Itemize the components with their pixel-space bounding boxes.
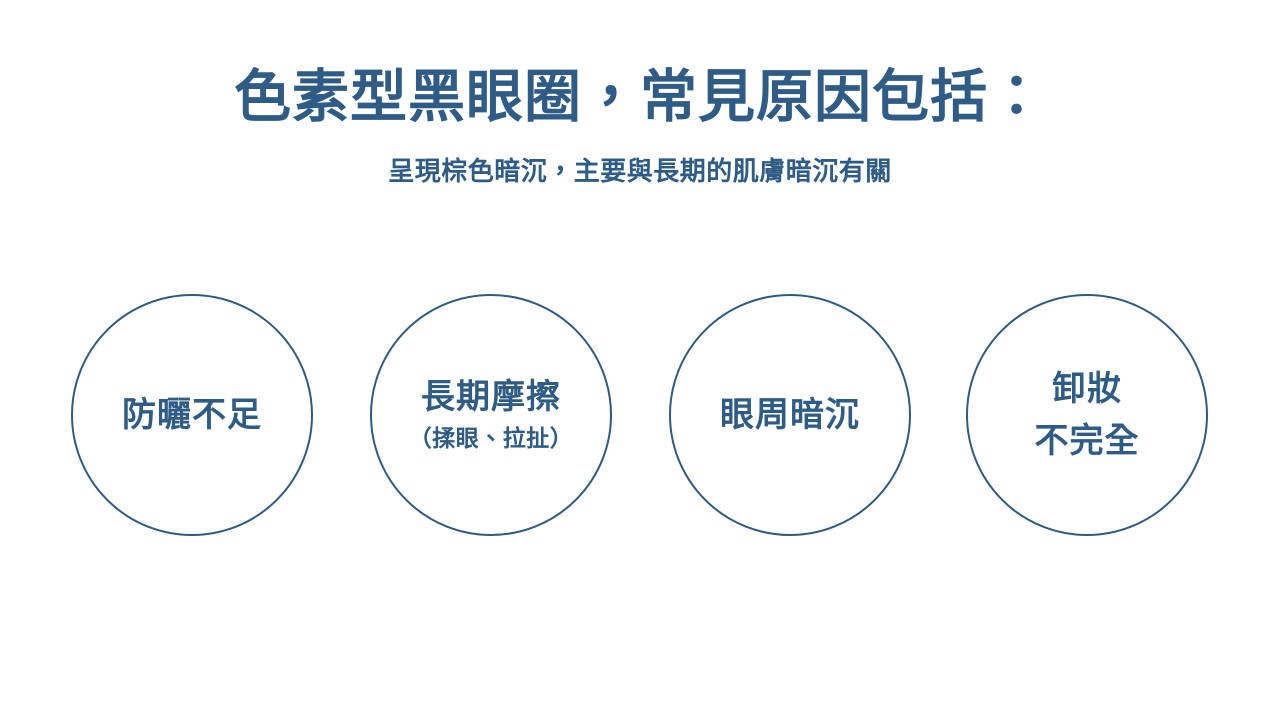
cause-circle-1: 防曬不足: [71, 294, 313, 536]
cause-circle-2-sublabel: （揉眼、拉扯）: [409, 424, 574, 454]
heading-block: 色素型黑眼圈，常見原因包括： 呈現棕色暗沉，主要與長期的肌膚暗沉有關: [0, 64, 1280, 189]
cause-circle-1-label: 防曬不足: [122, 394, 262, 436]
cause-circle-4-label: 卸妝: [1052, 368, 1122, 410]
cause-circle-3: 眼周暗沉: [669, 294, 911, 536]
cause-circle-4: 卸妝 不完全: [966, 294, 1208, 536]
cause-circle-2-label: 長期摩擦: [421, 376, 561, 418]
cause-circle-3-label: 眼周暗沉: [720, 394, 860, 436]
slide-canvas: 色素型黑眼圈，常見原因包括： 呈現棕色暗沉，主要與長期的肌膚暗沉有關 防曬不足 …: [0, 0, 1280, 720]
cause-circle-4-label-line2: 不完全: [1035, 420, 1140, 462]
cause-circle-2: 長期摩擦 （揉眼、拉扯）: [370, 294, 612, 536]
page-subtitle: 呈現棕色暗沉，主要與長期的肌膚暗沉有關: [0, 155, 1280, 189]
page-title: 色素型黑眼圈，常見原因包括：: [0, 64, 1280, 131]
causes-circle-row: 防曬不足 長期摩擦 （揉眼、拉扯） 眼周暗沉 卸妝 不完全: [0, 294, 1280, 540]
